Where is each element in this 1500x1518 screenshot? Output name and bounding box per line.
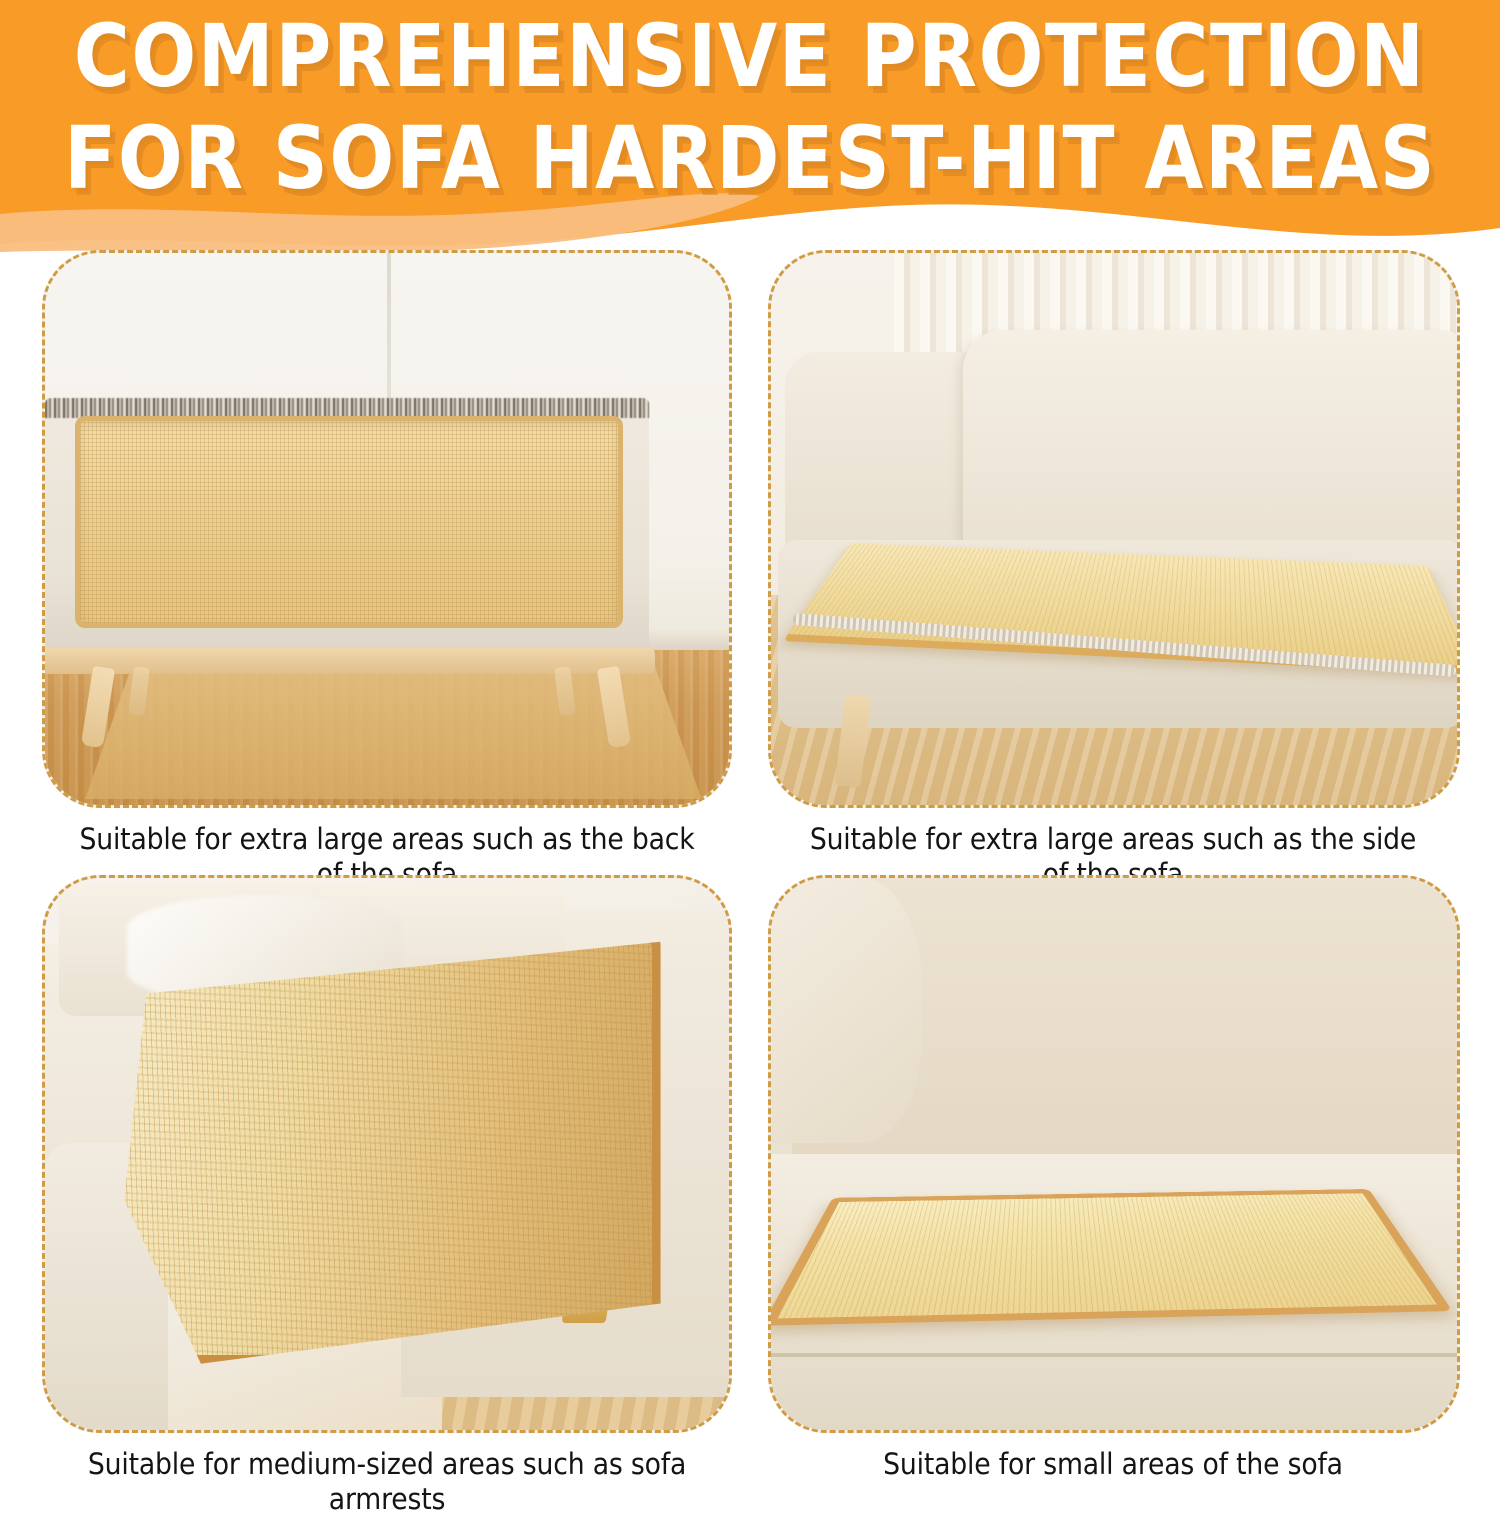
- sisal-mat-armrest: [113, 933, 660, 1364]
- sofa-top-trim: [45, 398, 649, 418]
- header-banner: COMPREHENSIVE PROTECTION FOR SOFA HARDES…: [0, 0, 1500, 258]
- sofa-side-cushion: [771, 878, 922, 1143]
- banner-title-line-2: FOR SOFA HARDEST-HIT AREAS: [64, 115, 1436, 201]
- panel-sofa-small: Suitable for small areas of the sofa: [768, 875, 1480, 1482]
- panel-sofa-back: Suitable for extra large areas such as t…: [42, 250, 754, 893]
- photo-sofa-back: [42, 250, 732, 808]
- banner-title-line-1: COMPREHENSIVE PROTECTION: [74, 14, 1426, 100]
- sisal-mat-back: [75, 416, 623, 629]
- sofa-seat-edge: [771, 1353, 1457, 1357]
- photo-sofa-side: [768, 250, 1460, 808]
- sofa-backrest-cushion: [963, 330, 1460, 562]
- panel-caption: Suitable for small areas of the sofa: [796, 1447, 1431, 1482]
- sisal-mat-small: [768, 1189, 1452, 1326]
- panel-sofa-armrest: Suitable for medium-sized areas such as …: [42, 875, 754, 1518]
- panel-grid: Suitable for extra large areas such as t…: [0, 250, 1500, 1491]
- banner-title-group: COMPREHENSIVE PROTECTION FOR SOFA HARDES…: [0, 0, 1500, 215]
- panel-sofa-side: Suitable for extra large areas such as t…: [768, 250, 1480, 893]
- photo-sofa-small: [768, 875, 1460, 1433]
- panel-caption: Suitable for medium-sized areas such as …: [70, 1447, 705, 1518]
- photo-sofa-armrest: [42, 875, 732, 1433]
